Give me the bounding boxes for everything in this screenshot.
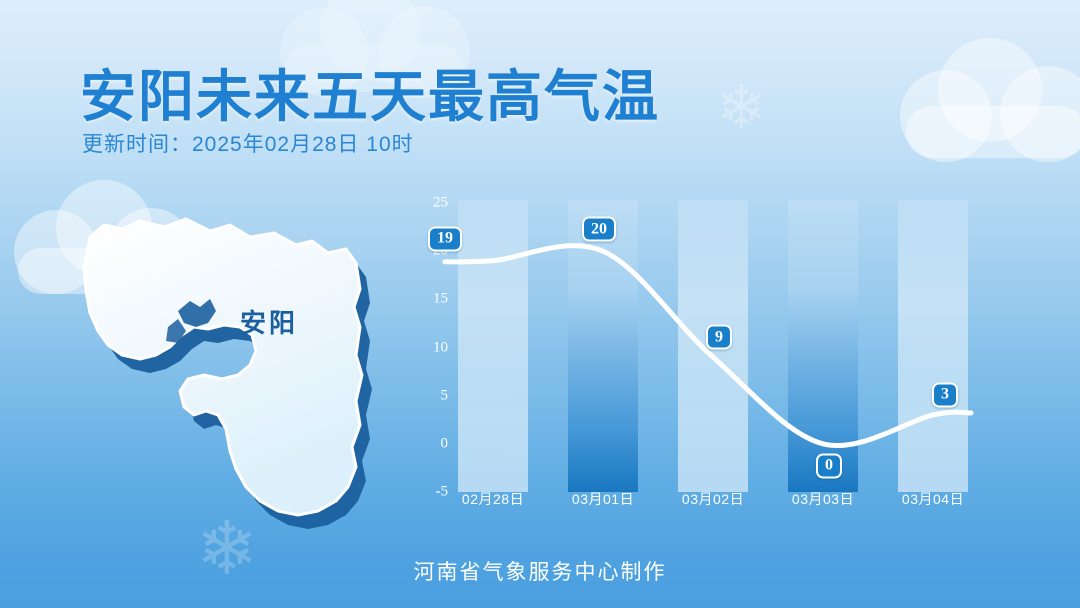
cloud-lobe	[938, 38, 1042, 142]
temperature-value-badge: 20	[582, 217, 616, 242]
snowflake-icon: ❄	[716, 78, 766, 138]
temperature-line	[400, 195, 1040, 515]
temperature-chart: 2520151050-5 02月28日03月01日03月02日03月03日03月…	[400, 195, 1040, 515]
temperature-value-badge: 0	[816, 453, 842, 478]
update-time-label: 更新时间：2025年02月28日 10时	[82, 128, 414, 158]
map-city-label: 安阳	[240, 303, 298, 340]
cloud-lobe	[900, 70, 992, 162]
anyang-map	[60, 215, 390, 555]
temperature-value-badge: 9	[706, 325, 732, 350]
temperature-value-badge: 19	[428, 226, 462, 251]
cloud-decoration-top-right	[900, 14, 1080, 124]
map-svg	[60, 215, 390, 555]
page-title: 安阳未来五天最高气温	[80, 52, 660, 133]
map-body-layer	[84, 219, 362, 515]
footer-credit: 河南省气象服务中心制作	[0, 556, 1080, 586]
cloud-base	[906, 106, 1080, 158]
cloud-lobe	[1000, 66, 1080, 162]
temperature-value-badge: 3	[932, 382, 958, 407]
